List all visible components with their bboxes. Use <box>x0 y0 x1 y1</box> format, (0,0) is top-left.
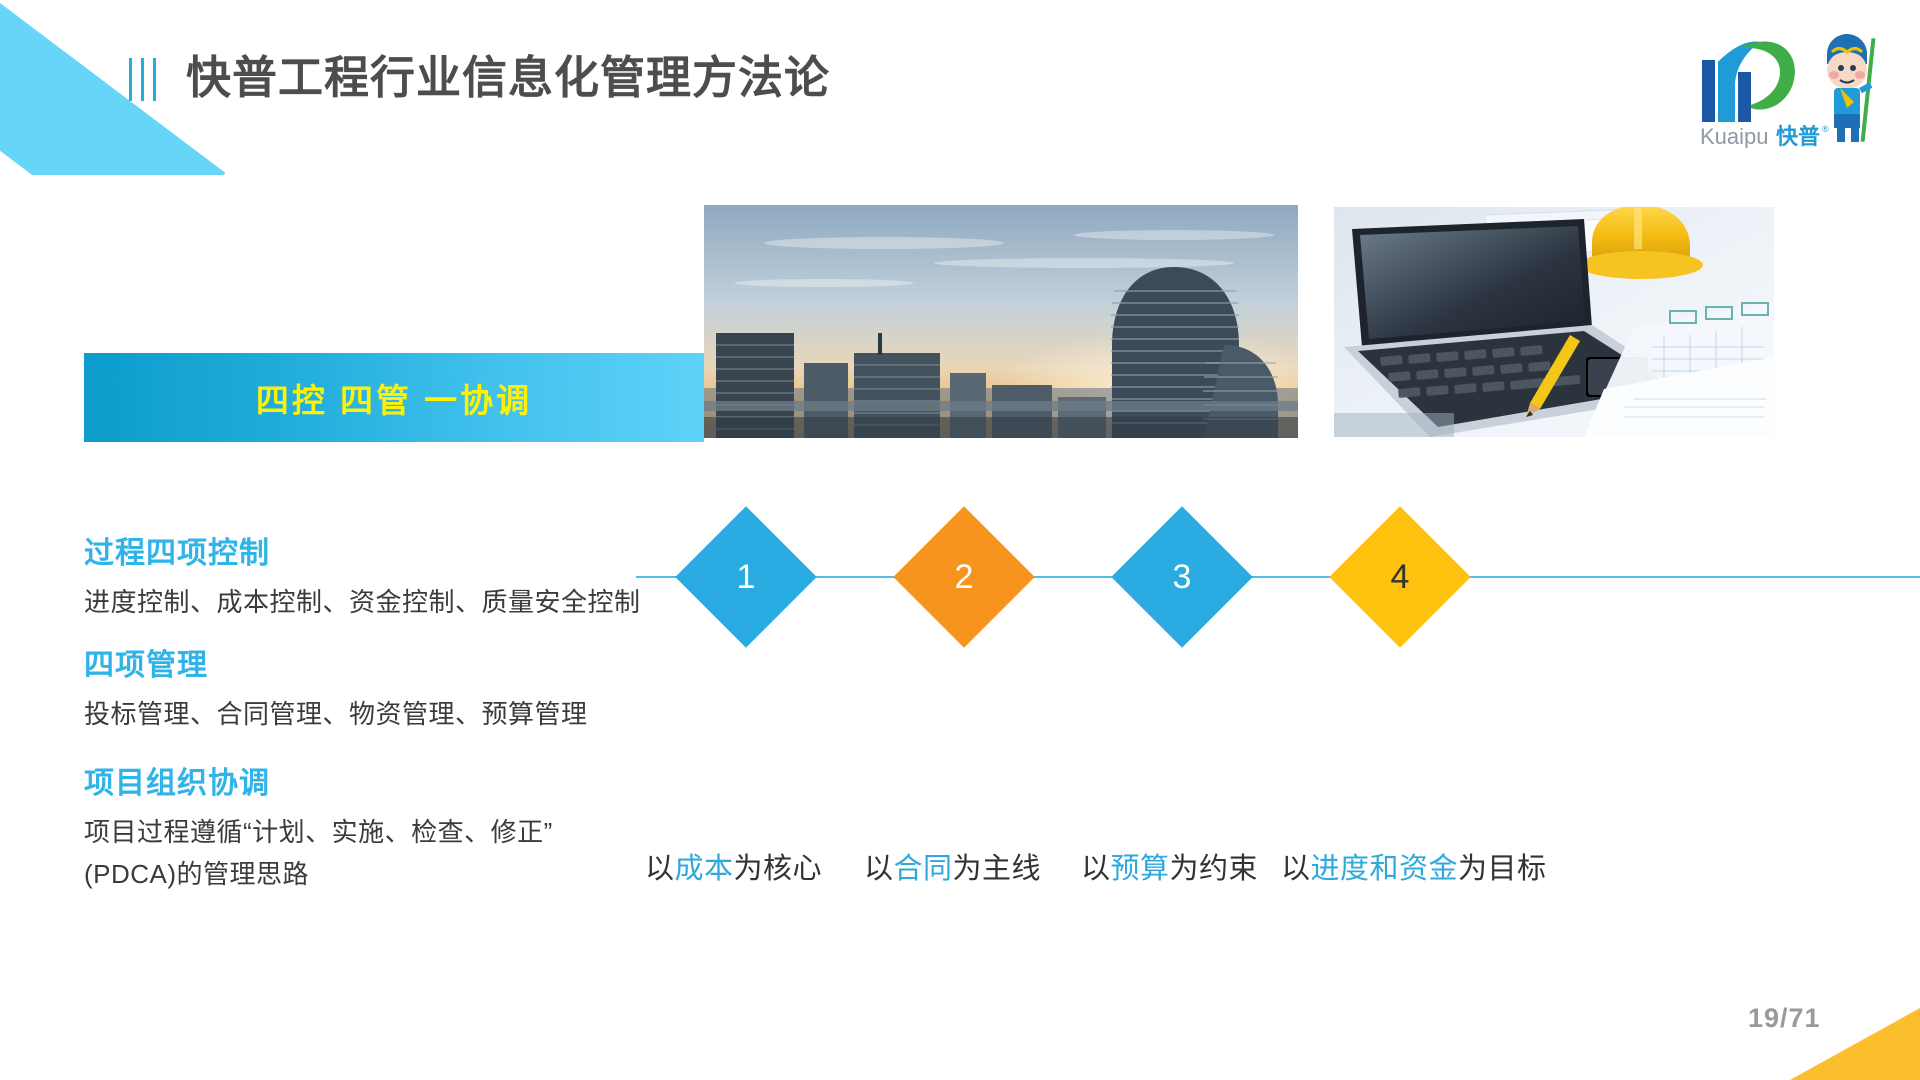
process-step-2[interactable]: 2 <box>884 497 1044 657</box>
caption-keyword: 预算 <box>1111 853 1170 885</box>
process-connector-line <box>636 576 1920 578</box>
process-caption-2: 以合同为主线 <box>864 845 1041 887</box>
caption-suffix: 为约束 <box>1170 853 1259 885</box>
caption-keyword: 合同 <box>894 853 953 885</box>
slide-root: 快普工程行业信息化管理方法论 Kuaipu 快普 ® <box>0 0 1920 1080</box>
process-diagram: 1 2 3 4 <box>636 497 1920 657</box>
corner-triangle-decoration <box>1790 1008 1920 1080</box>
mascot-character <box>1827 34 1875 142</box>
photo-city-skyline-sunset <box>704 205 1298 438</box>
process-step-4[interactable]: 4 <box>1320 497 1480 657</box>
caption-keyword: 进度和资金 <box>1311 853 1459 885</box>
section-body-line2: (PDCA)的管理思路 <box>84 853 553 895</box>
section-heading: 过程四项控制 <box>84 533 641 575</box>
caption-suffix: 为主线 <box>953 853 1042 885</box>
step-number: 2 <box>884 497 1044 657</box>
caption-suffix: 为目标 <box>1458 853 1547 885</box>
section-process-control: 过程四项控制 进度控制、成本控制、资金控制、质量安全控制 <box>84 533 641 623</box>
caption-prefix: 以 <box>864 853 894 885</box>
title-bars-icon <box>129 58 156 101</box>
banner-text: 四控 四管 一协调 <box>84 353 704 442</box>
process-step-1[interactable]: 1 <box>666 497 826 657</box>
process-step-3[interactable]: 3 <box>1102 497 1262 657</box>
section-four-management: 四项管理 投标管理、合同管理、物资管理、预算管理 <box>84 645 588 735</box>
process-caption-4: 以进度和资金为目标 <box>1281 845 1547 887</box>
caption-keyword: 成本 <box>675 853 734 885</box>
kuaipu-logo: Kuaipu 快普 ® <box>1694 28 1884 148</box>
page-title: 快普工程行业信息化管理方法论 <box>186 48 830 108</box>
section-project-coordination: 项目组织协调 项目过程遵循“计划、实施、检查、修正” (PDCA)的管理思路 <box>84 763 553 895</box>
svg-text:®: ® <box>1822 124 1829 134</box>
section-body-line1: 项目过程遵循“计划、实施、检查、修正” <box>84 811 553 853</box>
highlight-banner: 四控 四管 一协调 <box>84 353 704 442</box>
caption-prefix: 以 <box>645 853 675 885</box>
photo-laptop-hardhat-blueprints <box>1334 207 1774 437</box>
caption-prefix: 以 <box>1081 853 1111 885</box>
logo-wordmark-latin: Kuaipu <box>1700 124 1769 148</box>
process-caption-1: 以成本为核心 <box>645 845 822 887</box>
step-number: 4 <box>1320 497 1480 657</box>
process-caption-3: 以预算为约束 <box>1081 845 1258 887</box>
step-number: 3 <box>1102 497 1262 657</box>
step-number: 1 <box>666 497 826 657</box>
caption-suffix: 为核心 <box>734 853 823 885</box>
section-body: 投标管理、合同管理、物资管理、预算管理 <box>84 693 588 735</box>
section-heading: 四项管理 <box>84 645 588 687</box>
section-body: 进度控制、成本控制、资金控制、质量安全控制 <box>84 581 641 623</box>
section-heading: 项目组织协调 <box>84 763 553 805</box>
logo-wordmark-cn: 快普 <box>1776 124 1820 148</box>
caption-prefix: 以 <box>1281 853 1311 885</box>
